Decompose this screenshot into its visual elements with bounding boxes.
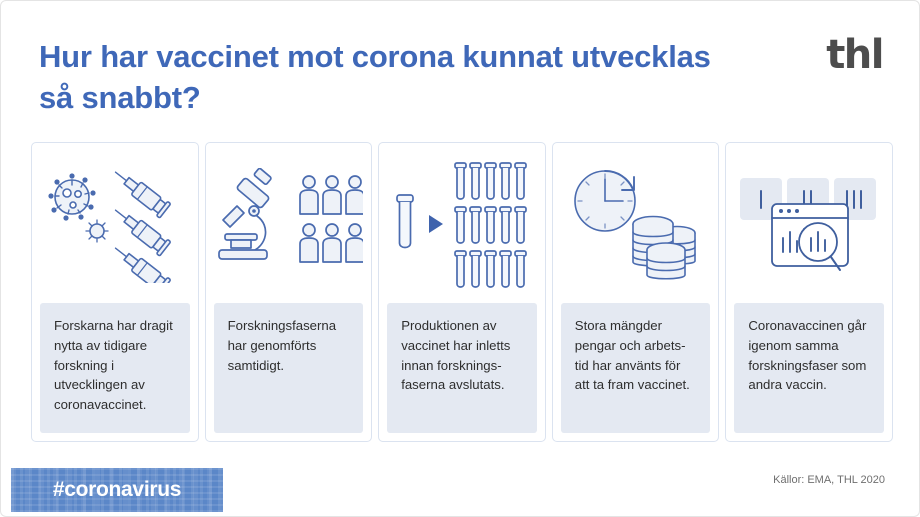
header: Hur har vaccinet mot corona kunnat utvec… (1, 1, 920, 137)
card-4: Stora mängder pengar och arbets-tid har … (552, 142, 720, 442)
card-1-text: Forskarna har dragit nytta av tidigare f… (40, 303, 190, 433)
thl-logo: thl (826, 35, 883, 75)
card-2: Forskningsfaserna har genomförts samtidi… (205, 142, 373, 442)
card-row: Forskarna har dragit nytta av tidigare f… (31, 142, 893, 442)
source-credit: Källor: EMA, THL 2020 (773, 474, 885, 486)
microscope-and-people-icon (206, 143, 372, 303)
test-tube-production-icon (379, 143, 545, 303)
clock-and-coins-icon (553, 143, 719, 303)
card-3: Produktionen av vaccinet har inletts inn… (378, 142, 546, 442)
virus-and-syringes-icon (32, 143, 198, 303)
hashtag-banner: #coronavirus (11, 468, 223, 512)
card-4-text: Stora mängder pengar och arbets-tid har … (561, 303, 711, 433)
card-5-text: Coronavaccinen går igenom samma forsknin… (734, 303, 884, 433)
card-3-text: Produktionen av vaccinet har inletts inn… (387, 303, 537, 433)
page-title: Hur har vaccinet mot corona kunnat utvec… (39, 37, 739, 119)
research-phases-window-icon (726, 143, 892, 303)
infographic-page: Hur har vaccinet mot corona kunnat utvec… (0, 0, 920, 517)
hashtag-label: #coronavirus (53, 478, 181, 502)
card-1: Forskarna har dragit nytta av tidigare f… (31, 142, 199, 442)
card-5: Coronavaccinen går igenom samma forsknin… (725, 142, 893, 442)
card-2-text: Forskningsfaserna har genomförts samtidi… (214, 303, 364, 433)
